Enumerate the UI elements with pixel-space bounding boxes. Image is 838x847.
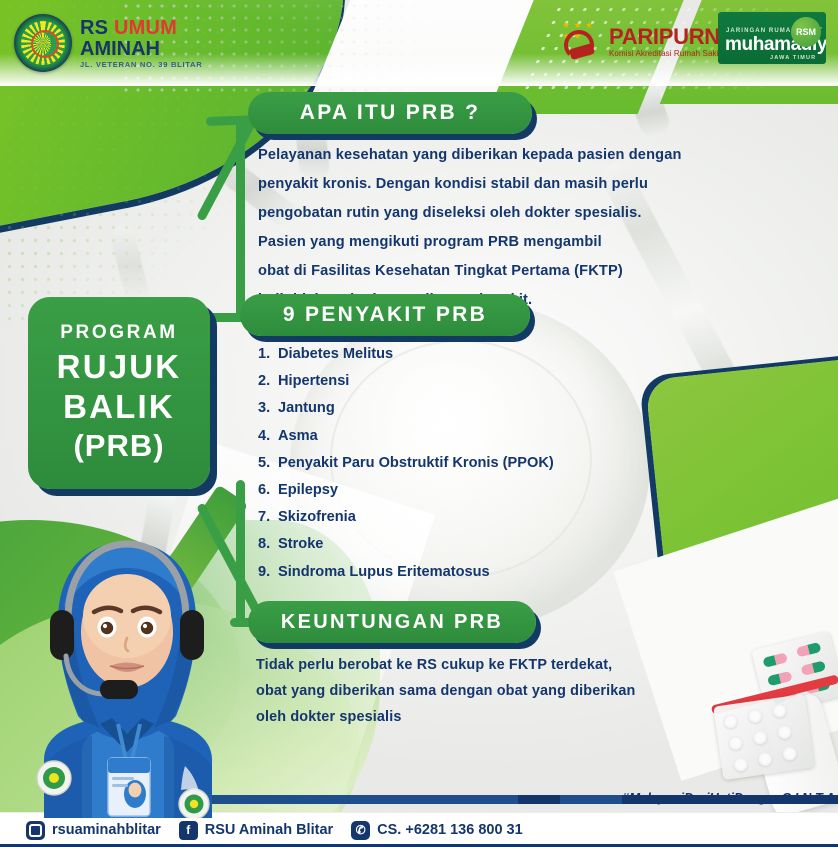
list-item: 4.Asma (258, 423, 554, 450)
program-title-box: PROGRAM RUJUK BALIK (PRB) (28, 297, 210, 489)
section-heading-apa-itu-prb: APA ITU PRB ? (248, 92, 532, 134)
footer-hashtag: #MelayaniDariHatiDenganC.I.N.T.A (622, 790, 835, 805)
list-number: 1. (258, 341, 278, 368)
section-heading-keuntungan-prb: KEUNTUNGAN PRB (248, 601, 536, 643)
disease-list: 1.Diabetes Melitus 2.Hipertensi 3.Jantun… (258, 341, 554, 586)
apa-line: Pasien yang mengikuti program PRB mengam… (258, 228, 798, 257)
hospital-name-rs: RS (80, 17, 114, 39)
section-heading-9-penyakit-prb: 9 PENYAKIT PRB (240, 294, 530, 336)
list-label: Jantung (278, 400, 335, 416)
keuntungan-line: oleh dokter spesialis (256, 704, 776, 730)
list-item: 9.Sindroma Lupus Eritematosus (258, 559, 554, 586)
list-item: 8.Stroke (258, 531, 554, 558)
program-title-line4: (PRB) (73, 428, 164, 464)
paripurna-title: PARIPURNA (609, 26, 735, 48)
list-number: 6. (258, 477, 278, 504)
list-item: 3.Jantung (258, 395, 554, 422)
list-label: Hipertensi (278, 373, 349, 389)
list-label: Penyakit Paru Obstruktif Kronis (PPOK) (278, 455, 554, 471)
list-number: 8. (258, 531, 278, 558)
whatsapp-number[interactable]: CS. +6281 136 800 31 (377, 822, 523, 838)
hospital-logo-text: RS UMUM AMINAH JL. VETERAN NO. 39 BLITAR (80, 18, 202, 69)
instagram-icon[interactable] (26, 821, 45, 840)
list-item: 5.Penyakit Paru Obstruktif Kronis (PPOK) (258, 450, 554, 477)
hospital-name-line1: RS UMUM (80, 18, 202, 38)
list-number: 4. (258, 423, 278, 450)
whatsapp-icon[interactable]: ✆ (351, 821, 370, 840)
paripurna-mark-icon: ★ ★ ★ ★ ★ (562, 20, 604, 64)
customer-service-avatar-illustration (22, 528, 232, 818)
list-label: Diabetes Melitus (278, 346, 393, 362)
list-label: Skizofrenia (278, 509, 356, 525)
hospital-logo: RS UMUM AMINAH JL. VETERAN NO. 39 BLITAR (14, 14, 202, 72)
paripurna-text: PARIPURNA Komisi Akreditasi Rumah Sakit (609, 26, 735, 58)
connector-line (236, 480, 245, 625)
keuntungan-line: Tidak perlu berobat ke RS cukup ke FKTP … (256, 652, 776, 678)
list-item: 6.Epilepsy (258, 477, 554, 504)
list-item: 1.Diabetes Melitus (258, 341, 554, 368)
footer-hashtag-bar (560, 795, 622, 804)
list-label: Sindroma Lupus Eritematosus (278, 564, 490, 580)
infographic-poster: RS UMUM AMINAH JL. VETERAN NO. 39 BLITAR… (0, 0, 838, 847)
paripurna-accreditation-logo: ★ ★ ★ ★ ★ PARIPURNA Komisi Akreditasi Ru… (562, 20, 735, 64)
list-item: 2.Hipertensi (258, 368, 554, 395)
apa-itu-prb-body: Pelayanan kesehatan yang diberikan kepad… (258, 141, 798, 315)
list-label: Asma (278, 428, 318, 444)
rsm-badge-icon: RSM (791, 17, 821, 47)
apa-line: penyakit kronis. Dengan kondisi stabil d… (258, 170, 798, 199)
hospital-name-line2: AMINAH (80, 39, 202, 59)
list-number: 5. (258, 450, 278, 477)
list-number: 7. (258, 504, 278, 531)
network-region: JAWA TIMUR (770, 55, 816, 61)
list-label: Epilepsy (278, 482, 338, 498)
list-item: 7.Skizofrenia (258, 504, 554, 531)
list-label: Stroke (278, 536, 323, 552)
muhammadiyah-sun-emblem-icon (14, 14, 72, 72)
hospital-address: JL. VETERAN NO. 39 BLITAR (80, 61, 202, 69)
facebook-handle[interactable]: RSU Aminah Blitar (205, 822, 333, 838)
list-number: 2. (258, 368, 278, 395)
keuntungan-body: Tidak perlu berobat ke RS cukup ke FKTP … (256, 652, 776, 730)
paripurna-subtitle: Komisi Akreditasi Rumah Sakit (609, 50, 735, 58)
facebook-icon[interactable]: f (179, 821, 198, 840)
program-title-line2: RUJUK (57, 348, 182, 386)
instagram-handle[interactable]: rsuaminahblitar (52, 822, 161, 838)
keuntungan-line: obat yang diberikan sama dengan obat yan… (256, 678, 776, 704)
apa-line: pengobatan rutin yang diseleksi oleh dok… (258, 199, 798, 228)
program-title-line1: PROGRAM (60, 322, 177, 344)
apa-line: Pelayanan kesehatan yang diberikan kepad… (258, 141, 798, 170)
list-number: 3. (258, 395, 278, 422)
apa-line: obat di Fasilitas Kesehatan Tingkat Pert… (258, 257, 798, 286)
program-title-line3: BALIK (63, 388, 175, 426)
list-number: 9. (258, 559, 278, 586)
muhammadiyah-network-logo: JARINGAN RUMAH SAKIT muhamadiyah JAWA TI… (718, 12, 826, 64)
hospital-name-umum: UMUM (114, 17, 177, 39)
